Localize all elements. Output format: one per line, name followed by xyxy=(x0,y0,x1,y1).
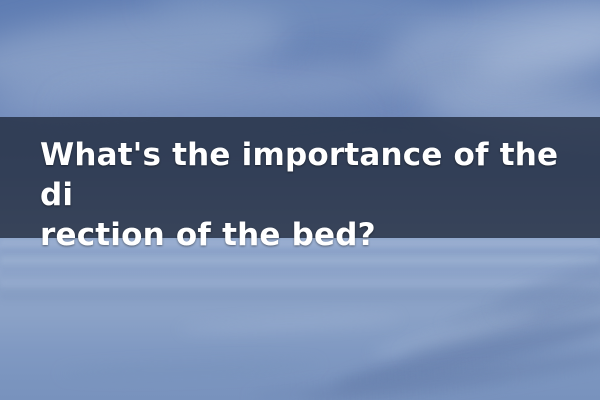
ice-ridge xyxy=(371,308,539,361)
caption-band: What's the importance of the di rection … xyxy=(0,117,600,238)
cloud-wisp xyxy=(299,40,600,112)
ice-ridge xyxy=(60,357,320,380)
cloud-wisp xyxy=(149,0,452,48)
cloud-wisp xyxy=(467,6,600,92)
caption-text: What's the importance of the di rection … xyxy=(40,135,588,255)
horizon-streak xyxy=(0,294,600,299)
cloud-wisp xyxy=(0,59,401,125)
horizon-streak xyxy=(0,269,600,274)
ice-ridge xyxy=(180,312,400,335)
ice-ridge xyxy=(300,343,600,400)
horizon-streak xyxy=(0,257,600,263)
cloud-wisp xyxy=(0,0,293,101)
ice-ridge xyxy=(400,279,600,364)
ice-ridge xyxy=(250,367,510,400)
ice-ridge xyxy=(442,256,600,335)
image-canvas: What's the importance of the di rection … xyxy=(0,0,600,400)
snow-field-region xyxy=(0,236,600,400)
horizon-streak xyxy=(0,280,600,287)
ice-ridge xyxy=(489,245,600,324)
ice-ridge xyxy=(331,307,600,400)
cloud-wisp xyxy=(375,0,600,109)
